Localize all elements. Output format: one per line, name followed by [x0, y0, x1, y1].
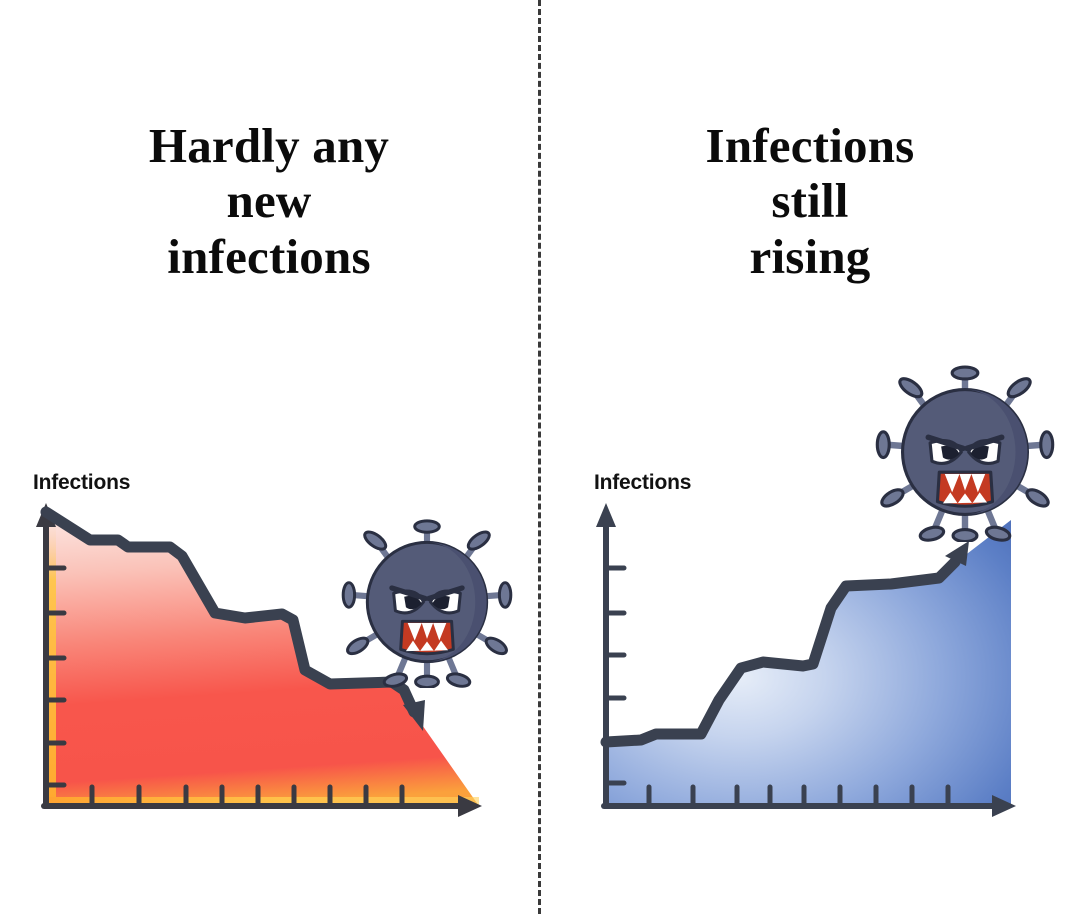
virus-spike — [985, 509, 1011, 542]
chart-left — [0, 0, 538, 914]
virus-spike — [416, 660, 439, 688]
panel-divider — [538, 0, 541, 914]
angry-virus-icon — [872, 362, 1058, 542]
angry-virus-icon — [338, 516, 516, 688]
panel-left: Hardly any new infections Infections — [0, 0, 538, 914]
virus-spike — [919, 509, 945, 542]
virus-mouth — [401, 621, 454, 653]
meme-canvas: Hardly any new infections Infections — [0, 0, 1080, 914]
virus-mouth — [937, 472, 992, 506]
panel-right: Infections still rising Infections — [541, 0, 1079, 914]
virus-spike — [953, 513, 977, 542]
virus-spike — [383, 656, 408, 688]
virus-spike — [446, 656, 471, 688]
